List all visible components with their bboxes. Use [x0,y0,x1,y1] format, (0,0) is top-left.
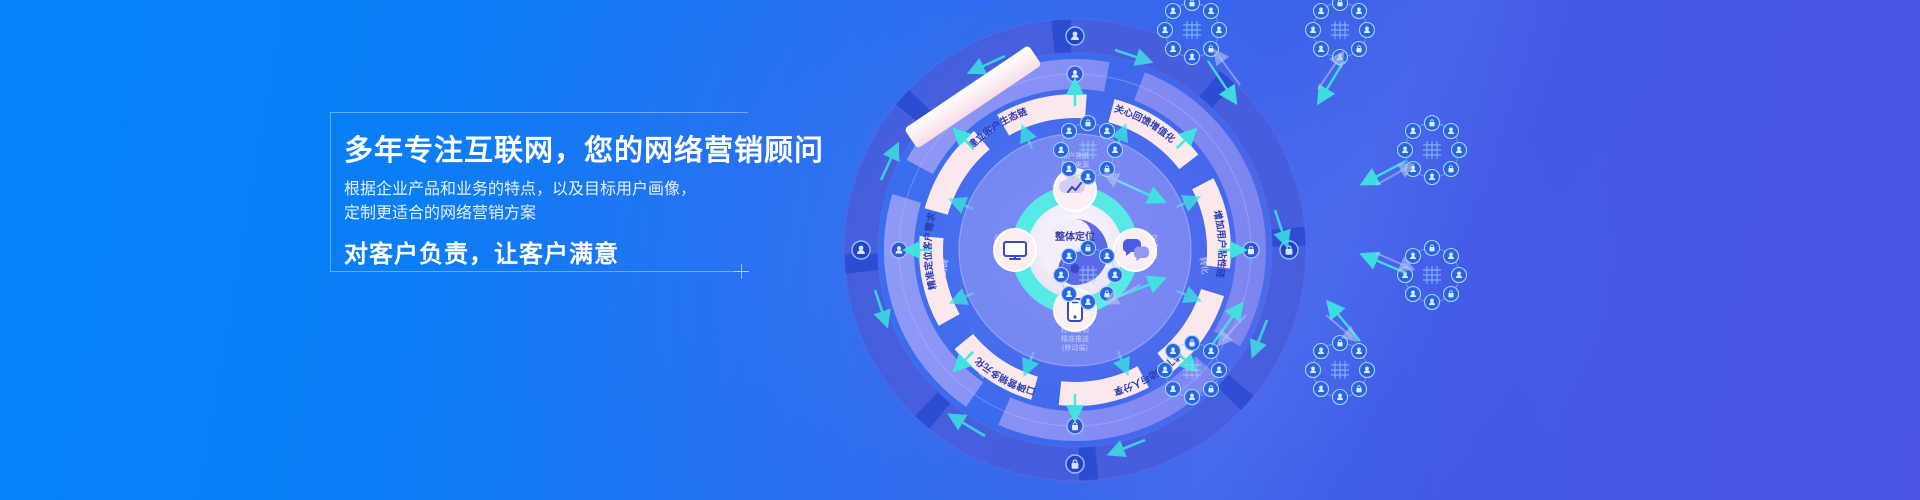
promo-subtitle-line-2: 定制更适合的网络营销方案 [344,202,536,226]
center-label: 整体定位 [1054,230,1095,243]
cloud-chart-icon-bubble [1054,169,1096,211]
svg-text:精准推送: 精准推送 [1061,334,1089,343]
monitor-icon-bubble [994,229,1036,271]
satellite-cluster-e-lower [1398,241,1467,310]
satellite-cluster-e-upper [1398,116,1467,185]
promo-tagline: 对客户负责，让客户满意 [344,234,619,269]
ecosystem-diagram: 渠道 内容 转化 运营 服务 口碑 [815,0,1335,500]
svg-text:(移动端): (移动端) [1062,343,1088,352]
mobile-phone-icon-bubble [1054,289,1096,331]
inner-caption-top: 用户需求 [1061,151,1089,160]
marketing-banner: 多年专注互联网，您的网络营销顾问 根据企业产品和业务的特点，以及目标用户画像， … [0,0,1920,500]
yin-yang-icon [1042,219,1108,285]
promo-text-block: 多年专注互联网，您的网络营销顾问 根据企业产品和业务的特点，以及目标用户画像， … [330,112,760,277]
promo-subtitle-line-1: 根据企业产品和业务的特点，以及目标用户画像， [344,178,696,202]
chat-bubble-icon-bubble [1114,229,1156,271]
svg-text:用户来源: 用户来源 [1061,160,1089,169]
page-title: 多年专注互联网，您的网络营销顾问 [344,136,824,168]
crosshair-marker-icon [734,264,749,279]
